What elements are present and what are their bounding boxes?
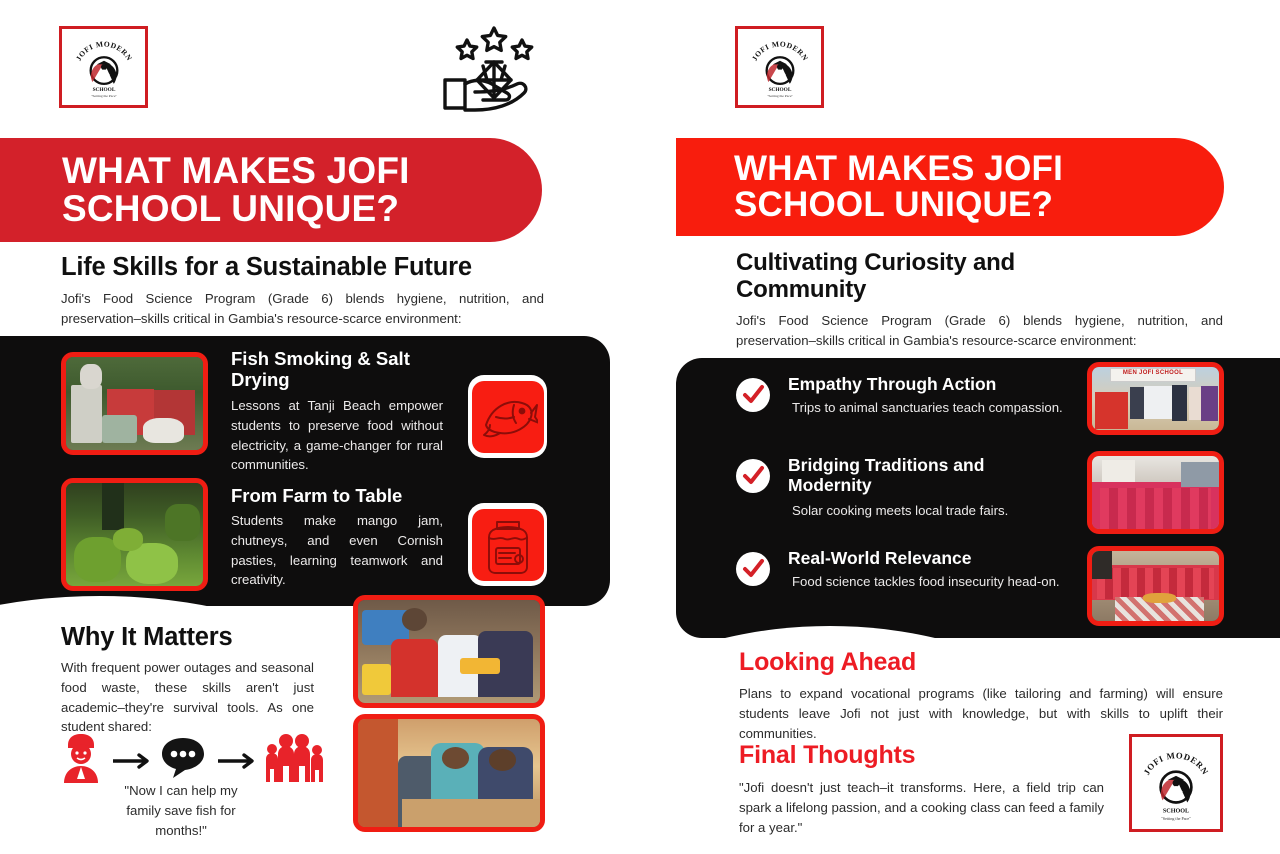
svg-text:JOFI MODERN: JOFI MODERN (749, 39, 809, 62)
svg-text:"Setting the Pace": "Setting the Pace" (767, 94, 793, 98)
svg-text:SCHOOL: SCHOOL (768, 87, 791, 93)
left-panel: JOFI MODERN SCHOOL "Setting the Pace" (0, 0, 640, 854)
logo-inner-right: JOFI MODERN SCHOOL "Setting the Pace" (742, 33, 817, 101)
right-header-banner: WHAT MAKES JOFI SCHOOL UNIQUE? (676, 138, 1224, 236)
jam-jar-icon-tile (468, 503, 547, 586)
logo-inner-bottom: JOFI MODERN SCHOOL "Setting the Pace" (1136, 741, 1216, 825)
right-item-title-1: Empathy Through Action (788, 374, 1078, 394)
school-logo-top-right: JOFI MODERN SCHOOL "Setting the Pace" (735, 26, 824, 108)
why-it-matters-heading: Why It Matters (61, 623, 361, 652)
left-section-intro: Jofi's Food Science Program (Grade 6) bl… (61, 289, 544, 329)
right-item-photo-1: MEN JOFI SCHOOL (1087, 362, 1224, 435)
logo-mark-bottom: JOFI MODERN SCHOOL "Setting the Pace" (1135, 743, 1217, 823)
right-item-body-3: Food science tackles food insecurity hea… (792, 572, 1067, 592)
logo-mark: JOFI MODERN SCHOOL "Setting the Pace" (65, 35, 143, 99)
family-icon (263, 732, 325, 789)
left-item-body-1: Lessons at Tanji Beach empower students … (231, 396, 443, 475)
check-circle-icon-2 (736, 459, 770, 493)
left-item-body-2: Students make mango jam, chutneys, and e… (231, 511, 443, 590)
right-item-photo-3 (1087, 546, 1224, 626)
student-icon (58, 733, 104, 783)
right-item-body-2: Solar cooking meets local trade fairs. (792, 501, 1082, 521)
svg-text:SCHOOL: SCHOOL (1163, 809, 1189, 815)
right-item-body-1: Trips to animal sanctuaries teach compas… (792, 398, 1070, 418)
student-quote: "Now I can help my family save fish for … (116, 781, 246, 840)
svg-text:SCHOOL: SCHOOL (92, 87, 115, 93)
why-it-matters-body: With frequent power outages and seasonal… (61, 658, 314, 737)
right-section-intro: Jofi's Food Science Program (Grade 6) bl… (736, 311, 1223, 351)
final-thoughts-heading: Final Thoughts (739, 741, 1079, 769)
right-item-photo-2 (1087, 451, 1224, 534)
left-item-photo-2 (61, 478, 208, 591)
final-thoughts-body: "Jofi doesn't just teach–it transforms. … (739, 778, 1104, 837)
check-circle-icon-1 (736, 378, 770, 412)
svg-text:JOFI MODERN: JOFI MODERN (73, 39, 133, 62)
check-circle-icon-3 (736, 552, 770, 586)
left-header-title: WHAT MAKES JOFI SCHOOL UNIQUE? (62, 152, 462, 228)
logo-inner: JOFI MODERN SCHOOL "Setting the Pace" (66, 33, 141, 101)
left-item-title-2: From Farm to Table (231, 485, 461, 506)
fish-icon-tile (468, 375, 547, 458)
svg-text:"Setting the Pace": "Setting the Pace" (1161, 816, 1191, 821)
school-logo-bottom-right: JOFI MODERN SCHOOL "Setting the Pace" (1129, 734, 1223, 832)
fish-icon (472, 381, 544, 453)
left-bottom-photo-1 (353, 595, 545, 708)
left-header-banner: WHAT MAKES JOFI SCHOOL UNIQUE? (0, 138, 542, 242)
right-panel: JOFI MODERN SCHOOL "Setting the Pace" (640, 0, 1280, 854)
right-header-title: WHAT MAKES JOFI SCHOOL UNIQUE? (734, 151, 1134, 223)
speech-bubble-icon (160, 736, 206, 785)
jam-jar-icon (472, 509, 544, 581)
looking-ahead-heading: Looking Ahead (739, 648, 1079, 676)
left-bottom-photo-2 (353, 714, 545, 832)
infographic-page: JOFI MODERN SCHOOL "Setting the Pace" (0, 0, 1280, 854)
right-section-heading: Cultivating Curiosity and Community (736, 250, 1086, 304)
left-item-photo-1 (61, 352, 208, 455)
arrow-right-icon-2 (218, 753, 258, 774)
logo-mark-right: JOFI MODERN SCHOOL "Setting the Pace" (741, 35, 819, 99)
svg-text:"Setting the Pace": "Setting the Pace" (91, 94, 117, 98)
right-item-title-2: Bridging Traditions and Modernity (788, 455, 1028, 496)
school-logo: JOFI MODERN SCHOOL "Setting the Pace" (59, 26, 148, 108)
left-item-title-1: Fish Smoking & Salt Drying (231, 348, 431, 391)
hand-holding-diamond-icon (437, 18, 552, 113)
arrow-right-icon-1 (113, 753, 153, 774)
right-item-title-3: Real-World Relevance (788, 548, 1068, 568)
left-section-heading: Life Skills for a Sustainable Future (61, 253, 591, 282)
photo-banner-text: MEN JOFI SCHOOL (1112, 370, 1193, 380)
